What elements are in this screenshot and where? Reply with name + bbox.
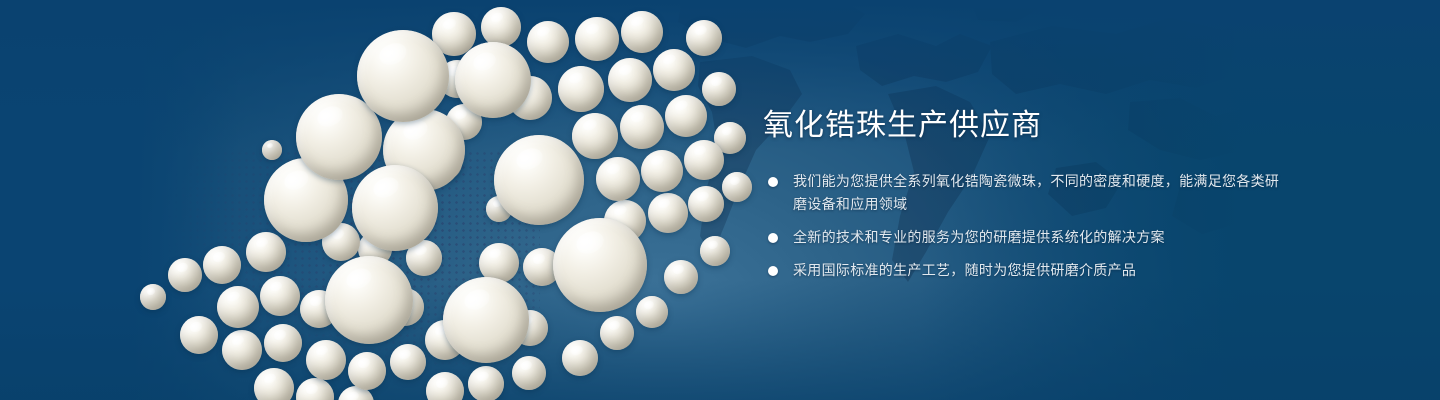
zirconia-bead xyxy=(494,135,584,225)
zirconia-bead xyxy=(348,352,386,390)
zirconia-bead xyxy=(468,366,504,400)
banner-copy: 氧化锆珠生产供应商 我们能为您提供全系列氧化锆陶瓷微珠，不同的密度和硬度，能满足… xyxy=(763,104,1283,282)
zirconia-bead xyxy=(296,378,334,400)
banner-headline: 氧化锆珠生产供应商 xyxy=(763,104,1283,148)
zirconia-bead xyxy=(648,193,688,233)
zirconia-bead xyxy=(702,72,736,106)
zirconia-bead xyxy=(596,157,640,201)
zirconia-bead xyxy=(246,232,286,272)
zirconia-bead xyxy=(641,150,683,192)
zirconia-bead xyxy=(357,30,449,122)
zirconia-bead xyxy=(600,316,634,350)
zirconia-bead xyxy=(140,284,166,310)
zirconia-bead xyxy=(426,372,464,400)
zirconia-bead xyxy=(455,42,531,118)
zirconia-bead xyxy=(684,140,724,180)
zirconia-bead xyxy=(688,186,724,222)
zirconia-bead xyxy=(168,258,202,292)
bullet-dot-icon xyxy=(768,233,778,243)
zirconia-bead xyxy=(203,246,241,284)
zirconia-bead xyxy=(558,66,604,112)
bullet-dot-icon xyxy=(768,177,778,187)
zirconia-bead xyxy=(443,277,529,363)
zirconia-bead xyxy=(222,330,262,370)
zirconia-bead xyxy=(700,236,730,266)
zirconia-bead xyxy=(620,105,664,149)
zirconia-bead xyxy=(260,276,300,316)
zirconia-bead xyxy=(481,7,521,47)
zirconia-bead xyxy=(664,260,698,294)
feature-text-2: 全新的技术和专业的服务为您的研磨提供系统化的解决方案 xyxy=(793,229,1165,245)
zirconia-bead xyxy=(562,340,598,376)
zirconia-bead xyxy=(653,49,695,91)
zirconia-bead xyxy=(180,316,218,354)
zirconia-bead xyxy=(527,21,569,63)
zirconia-bead xyxy=(262,140,282,160)
zirconia-bead xyxy=(608,58,652,102)
zirconia-bead xyxy=(686,20,722,56)
zirconia-bead xyxy=(636,296,668,328)
zirconia-bead xyxy=(306,340,346,380)
zirconia-bead xyxy=(264,324,302,362)
feature-item-2: 全新的技术和专业的服务为您的研磨提供系统化的解决方案 xyxy=(763,226,1283,249)
zirconia-bead xyxy=(621,11,663,53)
feature-text-3: 采用国际标准的生产工艺，随时为您提供研磨介质产品 xyxy=(793,262,1136,278)
feature-list: 我们能为您提供全系列氧化锆陶瓷微珠，不同的密度和硬度，能满足您各类研磨设备和应用… xyxy=(763,170,1283,282)
zirconia-beads-photo xyxy=(0,0,760,400)
zirconia-bead xyxy=(390,344,426,380)
zirconia-bead xyxy=(575,17,619,61)
zirconia-bead xyxy=(665,95,707,137)
zirconia-bead xyxy=(254,368,294,400)
zirconia-bead xyxy=(217,286,259,328)
zirconia-bead xyxy=(325,256,413,344)
feature-text-1: 我们能为您提供全系列氧化锆陶瓷微珠，不同的密度和硬度，能满足您各类研磨设备和应用… xyxy=(793,173,1279,212)
feature-item-3: 采用国际标准的生产工艺，随时为您提供研磨介质产品 xyxy=(763,259,1283,282)
zirconia-bead xyxy=(553,218,647,312)
zirconia-bead xyxy=(352,165,438,251)
zirconia-bead xyxy=(572,113,618,159)
zirconia-bead xyxy=(512,356,546,390)
hero-banner: 氧化锆珠生产供应商 我们能为您提供全系列氧化锆陶瓷微珠，不同的密度和硬度，能满足… xyxy=(0,0,1440,400)
feature-item-1: 我们能为您提供全系列氧化锆陶瓷微珠，不同的密度和硬度，能满足您各类研磨设备和应用… xyxy=(763,170,1283,216)
zirconia-bead xyxy=(722,172,752,202)
bullet-dot-icon xyxy=(768,266,778,276)
